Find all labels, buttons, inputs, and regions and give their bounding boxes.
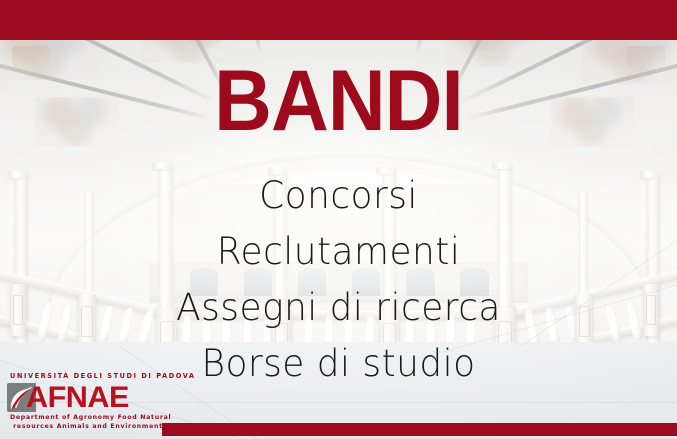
dafnae-logo: UNIVERSITÀ DEGLI STUDI DI PADOVA AFNAE D…: [6, 372, 178, 434]
category-reclutamenti: Reclutamenti: [10, 224, 667, 280]
category-concorsi: Concorsi: [10, 168, 667, 224]
logo-department-line-2: resources Animals and Environment: [6, 422, 170, 431]
logo-wordmark-row: AFNAE: [6, 382, 178, 413]
category-assegni-di-ricerca: Assegni di ricerca: [10, 280, 667, 336]
bandi-poster: BANDI Concorsi Reclutamenti Assegni di r…: [0, 0, 677, 439]
logo-department-line-1: Department of Agronomy Food Natural: [10, 413, 178, 422]
bottom-red-band: [162, 423, 677, 436]
top-red-band: [0, 0, 677, 40]
page-title: BANDI: [24, 58, 654, 144]
logo-acronym: AFNAE: [26, 382, 129, 413]
bandi-categories-list: Concorsi Reclutamenti Assegni di ricerca…: [0, 168, 677, 392]
logo-university-name: UNIVERSITÀ DEGLI STUDI DI PADOVA: [10, 372, 178, 381]
